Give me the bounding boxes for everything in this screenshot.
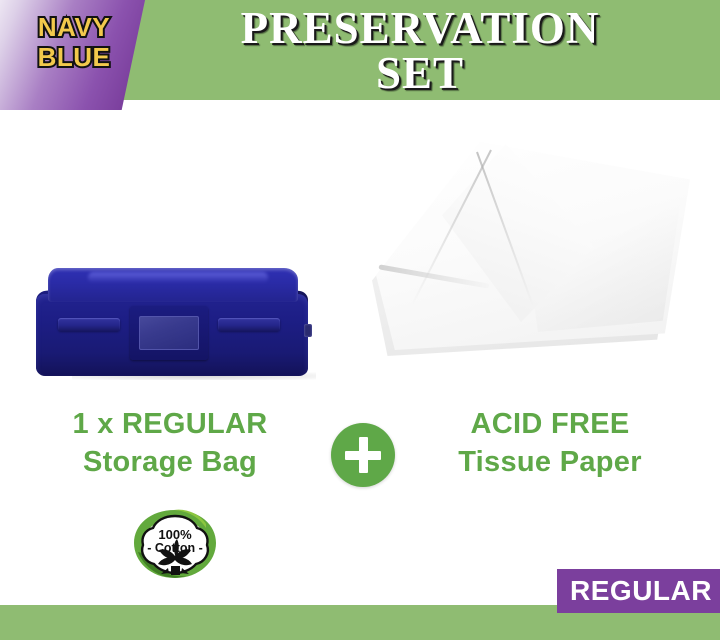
color-variant-badge — [0, 0, 146, 110]
bag-handle-right — [218, 318, 280, 331]
plus-icon — [331, 423, 395, 487]
size-tag-label: REGULAR — [557, 569, 720, 613]
cotton-seal-percent: 100% — [158, 527, 192, 542]
cotton-seal-icon: 100% - Cotton - — [128, 506, 222, 584]
tissue-paper-icon — [372, 132, 694, 360]
benefit-tissue: ACID FREE Tissue Paper — [400, 405, 700, 481]
plus-icon-bar-vertical — [359, 437, 368, 473]
benefit-tissue-line-1: ACID FREE — [400, 405, 700, 443]
benefit-bag-line-1: 1 x REGULAR — [20, 405, 320, 443]
bag-label-window — [139, 316, 199, 350]
bag-lid-highlight — [88, 272, 268, 283]
benefit-bag-line-2: Storage Bag — [20, 443, 320, 481]
size-tag: REGULAR — [557, 569, 720, 613]
bag-zipper-pull — [304, 324, 312, 337]
bag-label-pocket — [130, 306, 208, 360]
benefit-bag: 1 x REGULAR Storage Bag — [20, 405, 320, 481]
benefit-tissue-line-2: Tissue Paper — [400, 443, 700, 481]
bag-handle-left — [58, 318, 120, 331]
product-banner: PRESERVATION SET NAVY BLUE — [0, 0, 720, 640]
bag-top-lid — [48, 268, 298, 302]
storage-bag-icon — [32, 268, 310, 378]
product-stage — [0, 100, 720, 400]
